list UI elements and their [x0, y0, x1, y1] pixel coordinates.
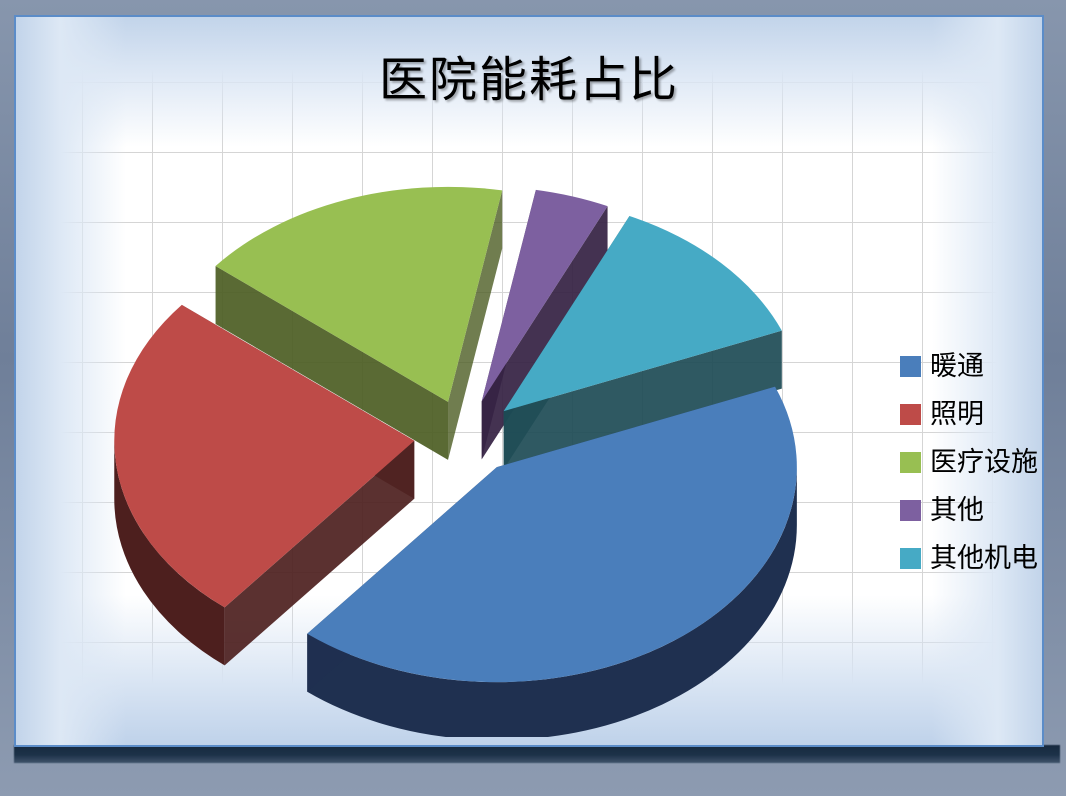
legend-label: 照明	[930, 401, 984, 428]
legend-swatch-icon	[900, 548, 921, 569]
legend-swatch-icon	[900, 452, 921, 473]
legend-item[interactable]: 其他机电	[900, 534, 1044, 582]
legend-item[interactable]: 暖通	[900, 342, 1044, 390]
chart-title: 医院能耗占比	[16, 55, 1042, 108]
pie-chart-svg	[36, 137, 886, 737]
legend-label: 暖通	[930, 353, 984, 380]
slide-content-area: 医院能耗占比 暖通 照明 医疗设施 其他 其他机电	[14, 15, 1044, 747]
legend-item[interactable]: 照明	[900, 390, 1044, 438]
legend-item[interactable]: 其他	[900, 486, 1044, 534]
legend-label: 其他机电	[930, 545, 1038, 572]
legend-label: 其他	[930, 497, 984, 524]
pie-chart-3d	[36, 137, 886, 737]
legend-swatch-icon	[900, 356, 921, 377]
legend-item[interactable]: 医疗设施	[900, 438, 1044, 486]
legend-swatch-icon	[900, 500, 921, 521]
legend-swatch-icon	[900, 404, 921, 425]
chart-legend: 暖通 照明 医疗设施 其他 其他机电	[900, 342, 1044, 582]
legend-label: 医疗设施	[930, 449, 1038, 476]
slide-drop-shadow	[14, 745, 1060, 763]
slide-canvas: 医院能耗占比 暖通 照明 医疗设施 其他 其他机电	[0, 0, 1066, 796]
